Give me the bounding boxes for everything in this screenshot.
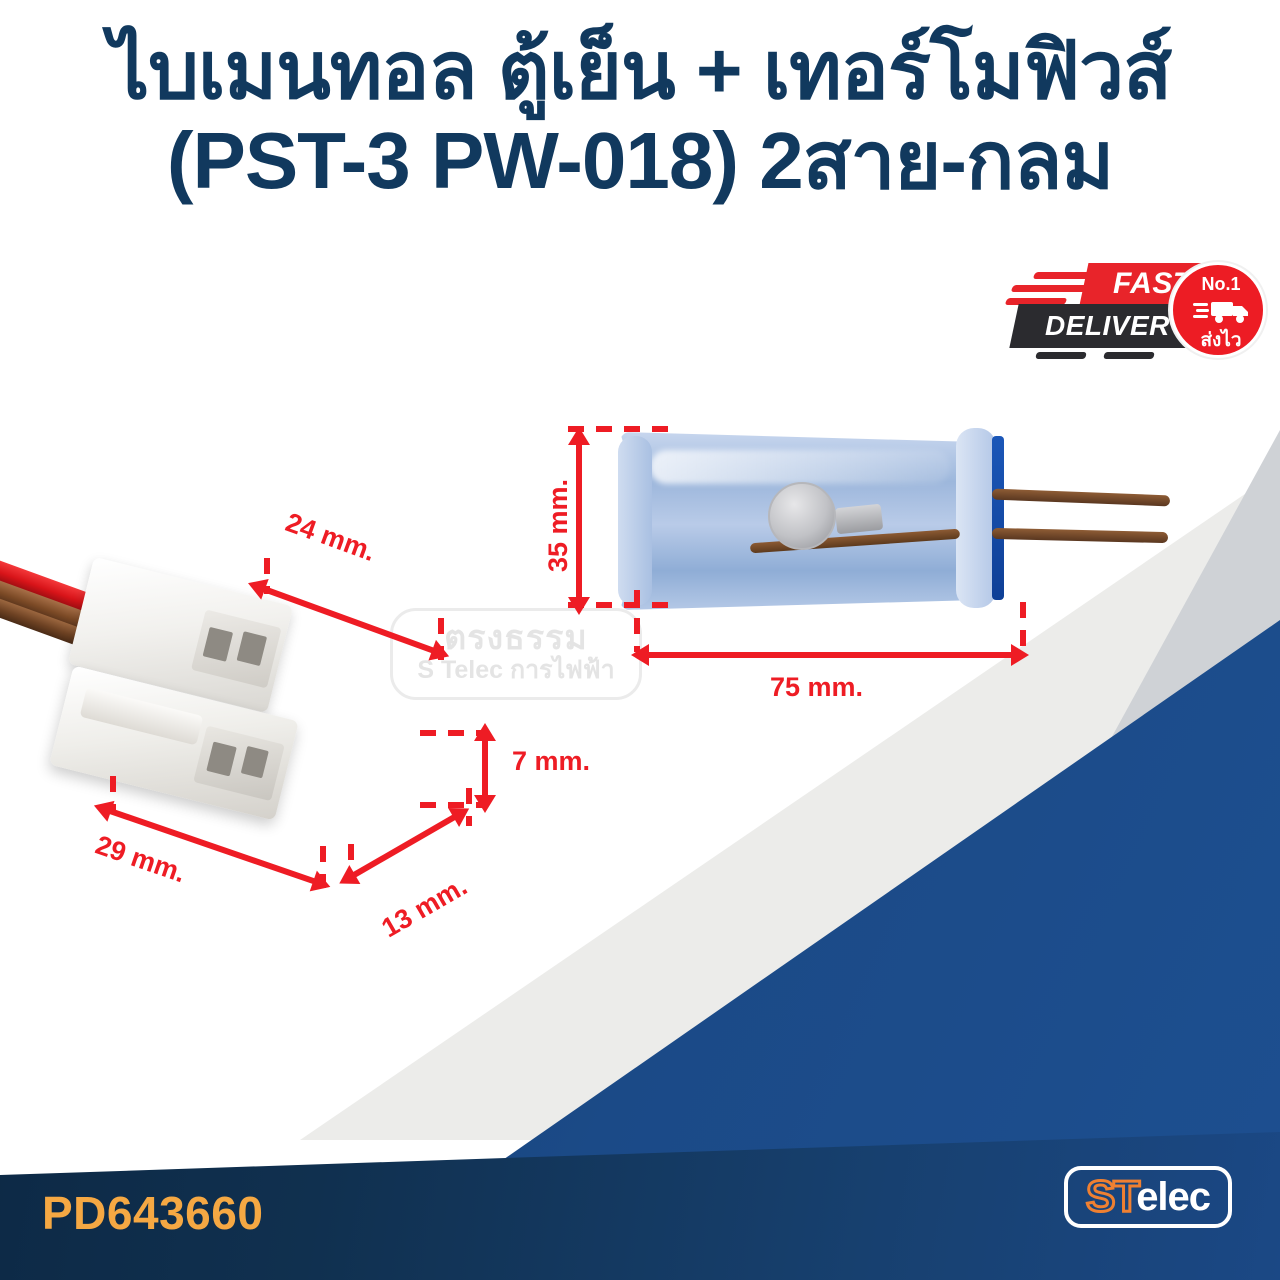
output-wire-1 bbox=[992, 489, 1170, 507]
connector-slot bbox=[241, 746, 269, 778]
delivery-label: DELIVERY bbox=[1045, 310, 1189, 342]
brand-logo: ST elec bbox=[1064, 1166, 1232, 1228]
fuse-terminal bbox=[835, 504, 883, 535]
dimension-13mm-label: 13 mm. bbox=[376, 871, 472, 944]
dimension-75mm: 75 mm. bbox=[620, 590, 1040, 700]
dimension-7mm: 7 mm. bbox=[420, 730, 640, 840]
badge-dash-left bbox=[1035, 352, 1086, 359]
page-title: ไบเมนทอล ตู้เย็น + เทอร์โมฟิวส์ (PST-3 P… bbox=[0, 26, 1280, 205]
title-line-1: ไบเมนทอล ตู้เย็น + เทอร์โมฟิวส์ bbox=[0, 26, 1280, 116]
fuse-sleeve-highlight bbox=[650, 450, 950, 484]
connector-slot bbox=[206, 742, 237, 777]
logo-st-text: ST bbox=[1086, 1175, 1138, 1219]
dimension-35mm-label: 35 mm. bbox=[543, 479, 574, 572]
connector-slot bbox=[203, 627, 234, 662]
title-line-2: (PST-3 PW-018) 2สาย-กลม bbox=[0, 116, 1280, 206]
songwai-label: ส่งไว bbox=[1173, 325, 1269, 355]
badge-dash-right bbox=[1103, 352, 1154, 359]
dimension-29mm: 29 mm. bbox=[68, 790, 348, 930]
dimension-24mm: 24 mm. bbox=[230, 560, 480, 680]
dimension-75mm-label: 75 mm. bbox=[770, 672, 863, 703]
product-listing-image: ไบเมนทอล ตู้เย็น + เทอร์โมฟิวส์ (PST-3 P… bbox=[0, 0, 1280, 1280]
bimetal-disc bbox=[768, 482, 836, 550]
fuse-sleeve-blue-edge bbox=[992, 436, 1004, 600]
output-wire-2 bbox=[992, 528, 1168, 543]
truck-icon bbox=[1193, 298, 1253, 324]
connector-latch-tab bbox=[80, 687, 204, 745]
logo-elec-text: elec bbox=[1136, 1177, 1210, 1217]
product-code: PD643660 bbox=[42, 1186, 263, 1240]
dimension-29mm-label: 29 mm. bbox=[91, 830, 189, 890]
no1-label: No.1 bbox=[1173, 274, 1269, 295]
dimension-7mm-label: 7 mm. bbox=[512, 746, 590, 777]
fast-delivery-badge: FAST DELIVERY No.1 ส่งไว bbox=[1000, 258, 1262, 362]
no1-circle-badge: No.1 ส่งไว bbox=[1170, 262, 1266, 358]
fuse-sleeve-cap-right bbox=[956, 428, 996, 608]
